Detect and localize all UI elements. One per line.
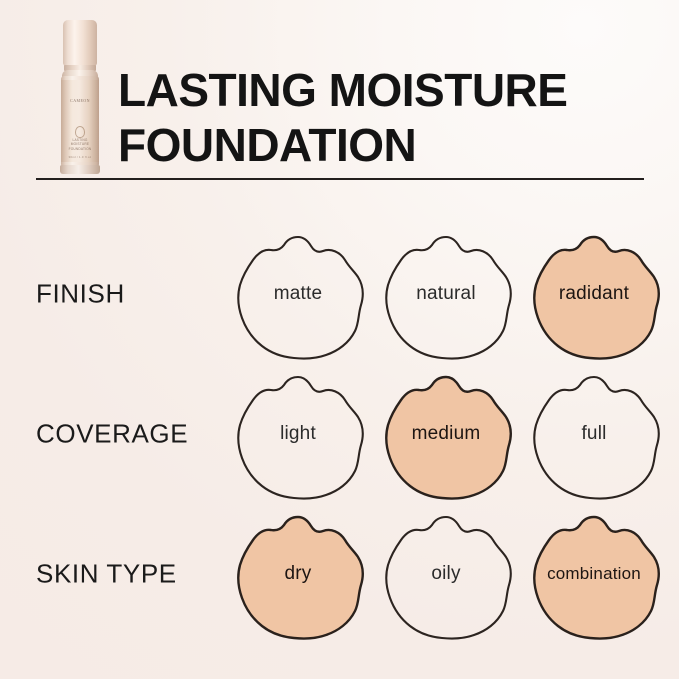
option-blob-radidant[interactable]: radidant xyxy=(524,228,664,360)
blob-shape-icon xyxy=(376,508,516,640)
attribute-row-skin-type: SKIN TYPE dry oily combination xyxy=(0,504,679,644)
options-group-skin-type: dry oily combination xyxy=(228,504,668,644)
bottle-cap xyxy=(63,20,97,66)
row-label-skin-type: SKIN TYPE xyxy=(36,559,177,590)
page-title: LASTING MOISTURE FOUNDATION xyxy=(118,63,658,173)
blob-shape-icon xyxy=(376,228,516,360)
page-title-line-2: FOUNDATION xyxy=(118,118,658,173)
option-blob-oily[interactable]: oily xyxy=(376,508,516,640)
bottle-label-line2: MOISTURE xyxy=(71,142,89,146)
option-blob-natural[interactable]: natural xyxy=(376,228,516,360)
bottle-body: CAMEON LASTING MOISTURE FOUNDATION 30ml … xyxy=(61,76,99,168)
header: CAMEON LASTING MOISTURE FOUNDATION 30ml … xyxy=(0,0,679,190)
row-label-finish: FINISH xyxy=(36,279,125,310)
option-blob-light[interactable]: light xyxy=(228,368,368,500)
bottle-emblem-icon xyxy=(75,126,85,138)
options-group-finish: matte natural radidant xyxy=(228,224,668,364)
blob-shape-icon xyxy=(524,508,664,640)
bottle-base xyxy=(60,165,100,174)
blob-shape-icon xyxy=(228,228,368,360)
row-label-coverage: COVERAGE xyxy=(36,419,188,450)
blob-shape-icon xyxy=(228,508,368,640)
page-title-line-1: LASTING MOISTURE xyxy=(118,63,658,118)
blob-shape-icon xyxy=(228,368,368,500)
blob-shape-icon xyxy=(524,228,664,360)
option-blob-medium[interactable]: medium xyxy=(376,368,516,500)
bottle-label-text: LASTING MOISTURE FOUNDATION xyxy=(61,138,99,151)
product-bottle-image: CAMEON LASTING MOISTURE FOUNDATION 30ml … xyxy=(56,20,104,172)
option-blob-dry[interactable]: dry xyxy=(228,508,368,640)
infographic-page: CAMEON LASTING MOISTURE FOUNDATION 30ml … xyxy=(0,0,679,679)
blob-shape-icon xyxy=(376,368,516,500)
option-blob-combination[interactable]: combination xyxy=(524,508,664,640)
blob-shape-icon xyxy=(524,368,664,500)
option-blob-full[interactable]: full xyxy=(524,368,664,500)
bottle-label-line3: FOUNDATION xyxy=(69,147,92,151)
bottle-brand-text: CAMEON xyxy=(61,98,99,103)
header-divider xyxy=(36,178,644,180)
attribute-row-coverage: COVERAGE light medium full xyxy=(0,364,679,504)
option-blob-matte[interactable]: matte xyxy=(228,228,368,360)
bottle-volume-text: 30ml / 1.0 fl.oz xyxy=(61,155,99,159)
bottle-label-line1: LASTING xyxy=(72,138,87,142)
attribute-row-finish: FINISH matte natural radidant xyxy=(0,224,679,364)
options-group-coverage: light medium full xyxy=(228,364,668,504)
